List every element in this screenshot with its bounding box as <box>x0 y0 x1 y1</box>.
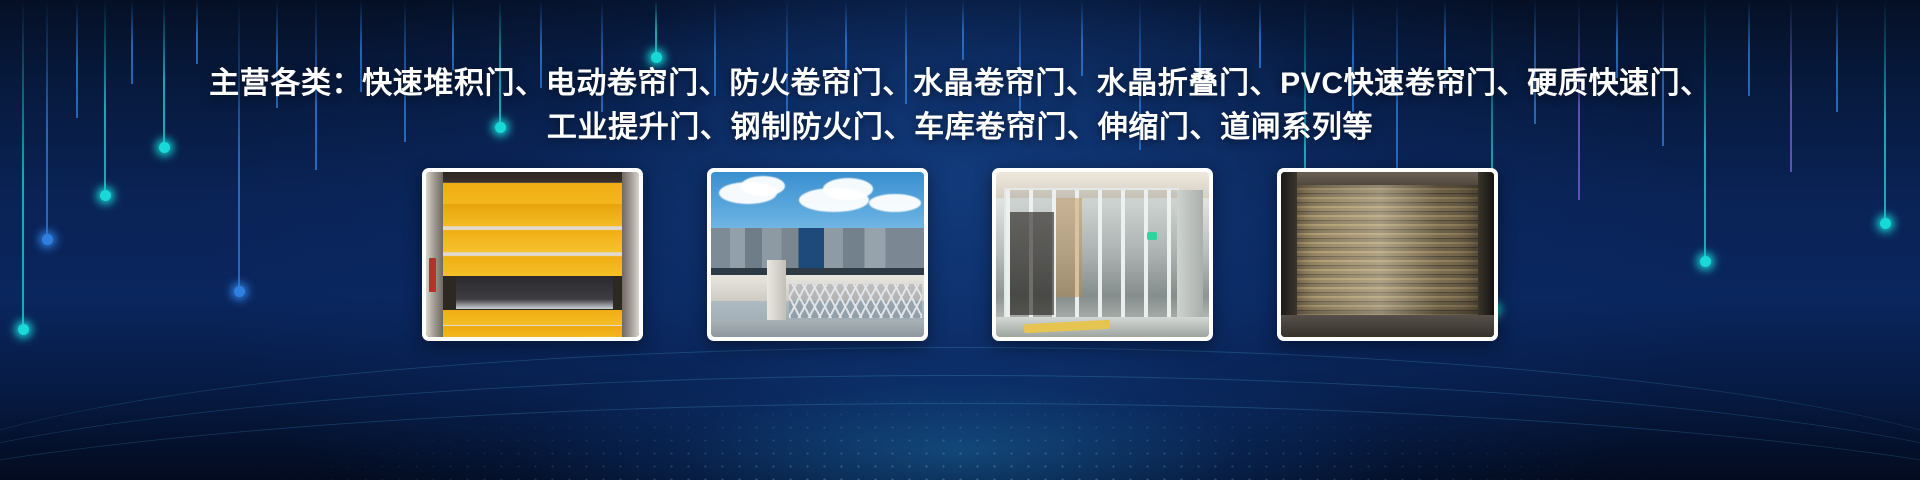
product-photo-fast-stacking-door <box>426 172 639 337</box>
headline-line-1: 主营各类：快速堆积门、电动卷帘门、防火卷帘门、水晶卷帘门、水晶折叠门、PVC快速… <box>0 62 1920 106</box>
cloud-shape <box>741 176 785 196</box>
promo-banner: 主营各类：快速堆积门、电动卷帘门、防火卷帘门、水晶卷帘门、水晶折叠门、PVC快速… <box>0 0 1920 480</box>
product-card-4[interactable] <box>1277 168 1498 341</box>
cloud-shape <box>823 178 873 200</box>
product-card-2[interactable] <box>707 168 928 341</box>
light-beam-line <box>196 0 198 64</box>
door-frame-left <box>426 172 443 337</box>
ground <box>711 320 924 337</box>
interior-dark-area <box>1010 212 1054 315</box>
product-photo-retractable-gate <box>711 172 924 337</box>
product-card-3[interactable] <box>992 168 1213 341</box>
ground <box>1281 315 1494 337</box>
light-beam <box>962 0 964 60</box>
light-beam-line <box>452 0 454 70</box>
headline-line-2: 工业提升门、钢制防火门、车库卷帘门、伸缩门、道闸系列等 <box>0 106 1920 150</box>
cloud-shape <box>869 194 921 212</box>
product-photo-crystal-folding-door <box>996 172 1209 337</box>
light-beam-line <box>962 0 964 60</box>
safety-strip <box>429 258 436 292</box>
retractable-gate-mesh <box>789 284 922 318</box>
roof-line <box>711 268 924 275</box>
light-beam-line <box>655 0 657 58</box>
wave-line <box>0 347 1920 480</box>
light-beam-line <box>1259 0 1261 68</box>
door-curtain-lower <box>443 310 622 337</box>
shutter-highlight <box>1297 185 1478 315</box>
door-vision-panel <box>456 276 613 309</box>
exit-sign <box>1147 232 1157 240</box>
shutter-jamb-right <box>1478 172 1494 337</box>
light-beam <box>452 0 454 70</box>
wave-line <box>0 375 1920 480</box>
product-card-row <box>0 168 1920 341</box>
wave-line <box>0 403 1920 480</box>
door-curtain <box>443 183 622 276</box>
headline: 主营各类：快速堆积门、电动卷帘门、防火卷帘门、水晶卷帘门、水晶折叠门、PVC快速… <box>0 62 1920 150</box>
door-side-panel <box>1177 190 1203 321</box>
door-frame-right <box>622 172 639 337</box>
dot-grid <box>0 330 1920 480</box>
gate-pillar <box>767 260 786 320</box>
interior-warm-light <box>1056 198 1082 297</box>
skyline-buildings <box>711 228 924 270</box>
light-beam <box>1259 0 1261 68</box>
product-photo-garage-roller-shutter <box>1281 172 1494 337</box>
product-card-1[interactable] <box>422 168 643 341</box>
shutter-jamb-left <box>1281 172 1297 337</box>
light-beam <box>196 0 198 64</box>
light-beam <box>655 0 657 58</box>
